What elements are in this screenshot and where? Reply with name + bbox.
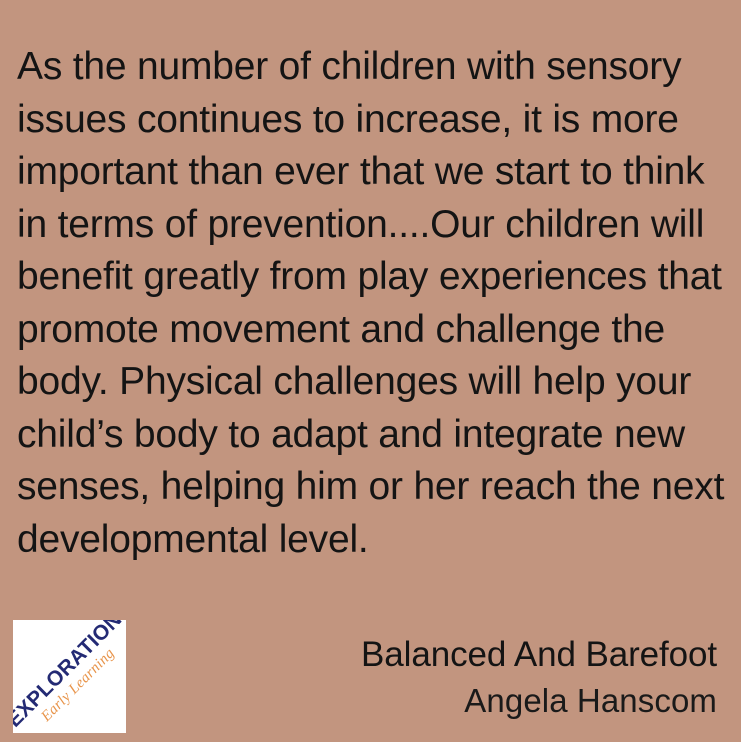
quote-line: body. Physical challenges will help your	[17, 356, 717, 409]
quote-text-block: As the number of children with sensory i…	[17, 41, 717, 566]
explorations-early-learning-logo: EXPLORATIONS Early Learning	[13, 620, 126, 733]
quote-line: issues continues to increase, it is more	[17, 94, 717, 147]
quote-line: child’s body to adapt and integrate new	[17, 409, 717, 462]
quote-card: As the number of children with sensory i…	[0, 0, 741, 742]
logo-rotor: EXPLORATIONS Early Learning	[13, 620, 126, 733]
logo-primary-text: EXPLORATIONS	[13, 620, 124, 731]
quote-line: developmental level.	[17, 514, 717, 567]
quote-line: senses, helping him or her reach the nex…	[17, 461, 717, 514]
logo-secondary-text: Early Learning	[20, 627, 126, 733]
attribution-author: Angela Hanscom	[297, 678, 717, 724]
quote-line: benefit greatly from play experiences th…	[17, 251, 717, 304]
quote-line: As the number of children with sensory	[17, 41, 717, 94]
attribution-block: Balanced And Barefoot Angela Hanscom	[297, 632, 717, 724]
attribution-source-title: Balanced And Barefoot	[297, 632, 717, 678]
quote-line: in terms of prevention....Our children w…	[17, 199, 717, 252]
quote-line: important than ever that we start to thi…	[17, 146, 717, 199]
quote-line: promote movement and challenge the	[17, 304, 717, 357]
